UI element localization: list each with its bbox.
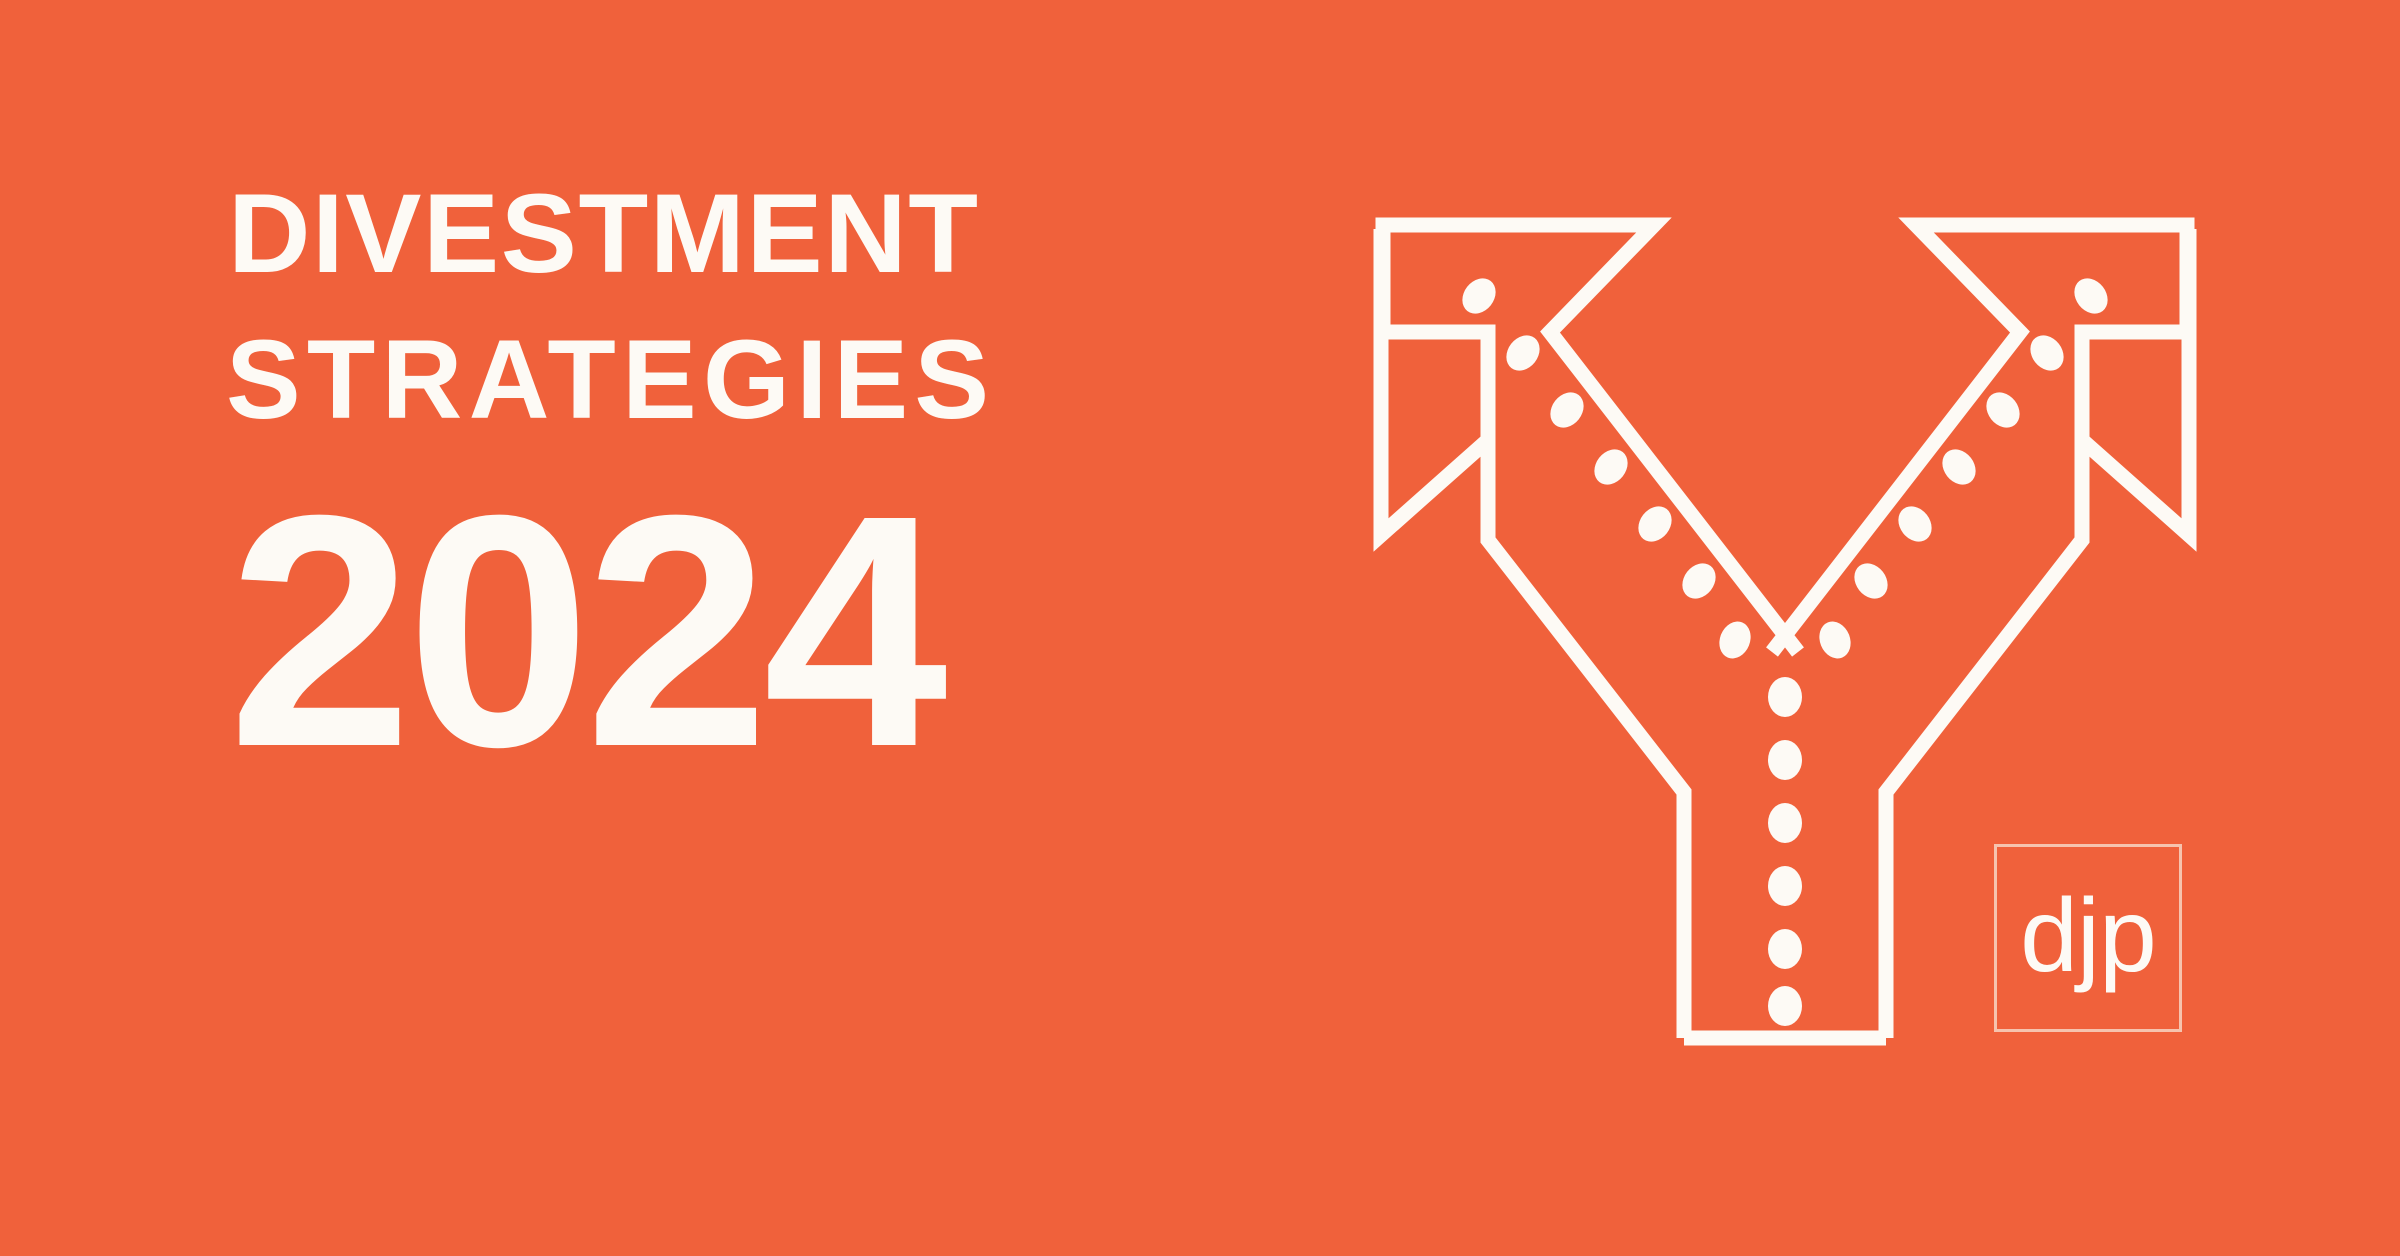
- right-branch-dotted-line: [1814, 272, 2115, 663]
- poster-canvas: DIVESTMENT STRATEGIES 2024: [0, 0, 2400, 1256]
- headline-year: 2024: [228, 466, 942, 796]
- left-branch-dotted-line: [1455, 272, 1756, 663]
- headline-block: DIVESTMENT STRATEGIES 2024: [228, 178, 1306, 1058]
- djp-logo: djp: [1994, 844, 2182, 1032]
- headline-line-strategies: STRATEGIES: [226, 324, 995, 436]
- right-arrowhead-notch: [2082, 229, 2189, 535]
- headline-line-divestment: DIVESTMENT: [228, 178, 980, 290]
- left-arrowhead-notch: [1381, 229, 1488, 535]
- stem-dotted-line: [1768, 677, 1802, 1026]
- djp-logo-text: djp: [1997, 884, 2179, 988]
